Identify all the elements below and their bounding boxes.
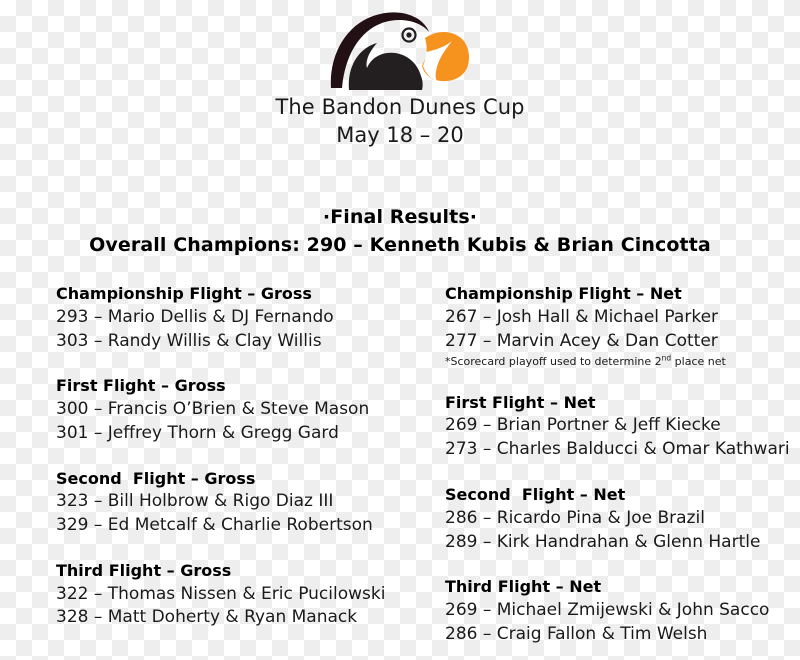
puffin-head-logo <box>325 8 475 90</box>
flight-heading: Third Flight – Net <box>445 576 768 599</box>
flight-entry: 303 – Randy Willis & Clay Willis <box>56 330 445 354</box>
flight-entry: 289 – Kirk Handrahan & Glenn Hartle <box>445 531 768 555</box>
flight-entry: 329 – Ed Metcalf & Charlie Robertson <box>56 514 445 538</box>
note-prefix: *Scorecard playoff used to determine 2 <box>445 355 662 368</box>
flight-block: First Flight – Net 269 – Brian Portner &… <box>445 392 768 462</box>
results-page: The Bandon Dunes Cup May 18 – 20 ·Final … <box>0 0 800 660</box>
flight-heading: Championship Flight – Net <box>445 283 768 306</box>
flight-block: Third Flight – Net 269 – Michael Zmijews… <box>445 576 768 646</box>
results-columns: Championship Flight – Gross 293 – Mario … <box>56 283 768 647</box>
flight-heading: First Flight – Gross <box>56 375 445 398</box>
event-title: The Bandon Dunes Cup <box>0 94 800 122</box>
flight-block: Championship Flight – Gross 293 – Mario … <box>56 283 445 353</box>
results-banner: ·Final Results· Overall Champions: 290 –… <box>0 205 800 258</box>
flight-entry: 286 – Craig Fallon & Tim Welsh <box>445 623 768 647</box>
flight-entry: 286 – Ricardo Pina & Joe Brazil <box>445 507 768 531</box>
gross-results-column: Championship Flight – Gross 293 – Mario … <box>56 283 445 630</box>
overall-champions: Overall Champions: 290 – Kenneth Kubis &… <box>0 233 800 259</box>
flight-block: Second Flight – Gross 323 – Bill Holbrow… <box>56 468 445 538</box>
flight-entry: 323 – Bill Holbrow & Rigo Diaz III <box>56 490 445 514</box>
note-suffix: place net <box>671 355 726 368</box>
flight-heading: Championship Flight – Gross <box>56 283 445 306</box>
flight-entry: 328 – Matt Doherty & Ryan Manack <box>56 606 445 630</box>
flight-heading: Third Flight – Gross <box>56 560 445 583</box>
note-ordinal-suffix: nd <box>662 354 672 363</box>
flight-heading: Second Flight – Net <box>445 484 768 507</box>
flight-entry: 300 – Francis O’Brien & Steve Mason <box>56 398 445 422</box>
flight-entry: 322 – Thomas Nissen & Eric Pucilowski <box>56 583 445 607</box>
scorecard-playoff-note: *Scorecard playoff used to determine 2nd… <box>445 354 768 369</box>
flight-entry: 269 – Michael Zmijewski & John Sacco <box>445 599 768 623</box>
flight-entry: 273 – Charles Balducci & Omar Kathwari <box>445 438 768 462</box>
flight-entry: 269 – Brian Portner & Jeff Kiecke <box>445 414 768 438</box>
flight-entry: 267 – Josh Hall & Michael Parker <box>445 306 768 330</box>
flight-block: Championship Flight – Net 267 – Josh Hal… <box>445 283 768 370</box>
flight-block: Second Flight – Net 286 – Ricardo Pina &… <box>445 484 768 554</box>
flight-block: First Flight – Gross 300 – Francis O’Bri… <box>56 375 445 445</box>
flight-heading: Second Flight – Gross <box>56 468 445 491</box>
event-dates: May 18 – 20 <box>0 122 800 150</box>
flight-entry: 293 – Mario Dellis & DJ Fernando <box>56 306 445 330</box>
flight-block: Third Flight – Gross 322 – Thomas Nissen… <box>56 560 445 630</box>
flight-heading: First Flight – Net <box>445 392 768 415</box>
net-results-column: Championship Flight – Net 267 – Josh Hal… <box>445 283 768 647</box>
page-header: The Bandon Dunes Cup May 18 – 20 <box>0 8 800 149</box>
final-results-title: ·Final Results· <box>0 205 800 231</box>
flight-entry: 277 – Marvin Acey & Dan Cotter <box>445 330 768 354</box>
flight-entry: 301 – Jeffrey Thorn & Gregg Gard <box>56 422 445 446</box>
